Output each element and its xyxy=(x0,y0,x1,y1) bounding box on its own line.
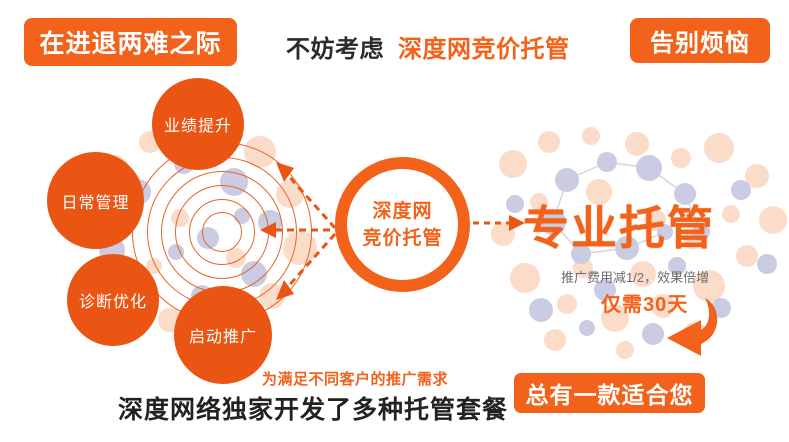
headline-orange: 深度网竞价托管 xyxy=(398,36,570,63)
hub-fanout-arrows xyxy=(190,140,350,320)
bubble-label: 诊断优化 xyxy=(79,288,147,312)
arrow-up-left-icon xyxy=(276,162,335,228)
main-title: 专业托管 xyxy=(523,192,715,258)
bubble-label: 日常管理 xyxy=(61,189,129,213)
arrow-down-left-icon xyxy=(276,234,335,300)
bubble-diagnosis-optimization[interactable]: 诊断优化 xyxy=(67,254,159,346)
bubble-daily-management[interactable]: 日常管理 xyxy=(47,152,144,249)
headline-dark: 不妨考虑 xyxy=(286,36,384,63)
hub-circle[interactable]: 深度网 竞价托管 xyxy=(335,157,470,292)
arrow-right-icon xyxy=(473,211,533,235)
curved-arrow-icon xyxy=(655,296,725,368)
subtitle: 推广费用减1/2，效果倍增 xyxy=(561,267,709,286)
bubble-label: 启动推广 xyxy=(189,323,257,347)
arrow-left-icon xyxy=(260,222,342,238)
promo-banner: 在进退两难之际 不妨考虑深度网竞价托管 告别烦恼 xyxy=(0,0,789,442)
hub-line-2: 竞价托管 xyxy=(362,225,442,252)
badge-right[interactable]: 告别烦恼 xyxy=(630,18,770,63)
bottom-subtext: 为满足不同客户的推广需求 xyxy=(262,368,448,389)
bubble-label: 业绩提升 xyxy=(164,112,232,136)
hub-line-1: 深度网 xyxy=(372,198,432,225)
badge-left[interactable]: 在进退两难之际 xyxy=(24,18,237,66)
badge-bottom[interactable]: 总有一款适合您 xyxy=(514,373,705,413)
bottom-heading: 深度网络独家开发了多种托管套餐 xyxy=(118,390,508,426)
headline: 不妨考虑深度网竞价托管 xyxy=(286,29,570,64)
